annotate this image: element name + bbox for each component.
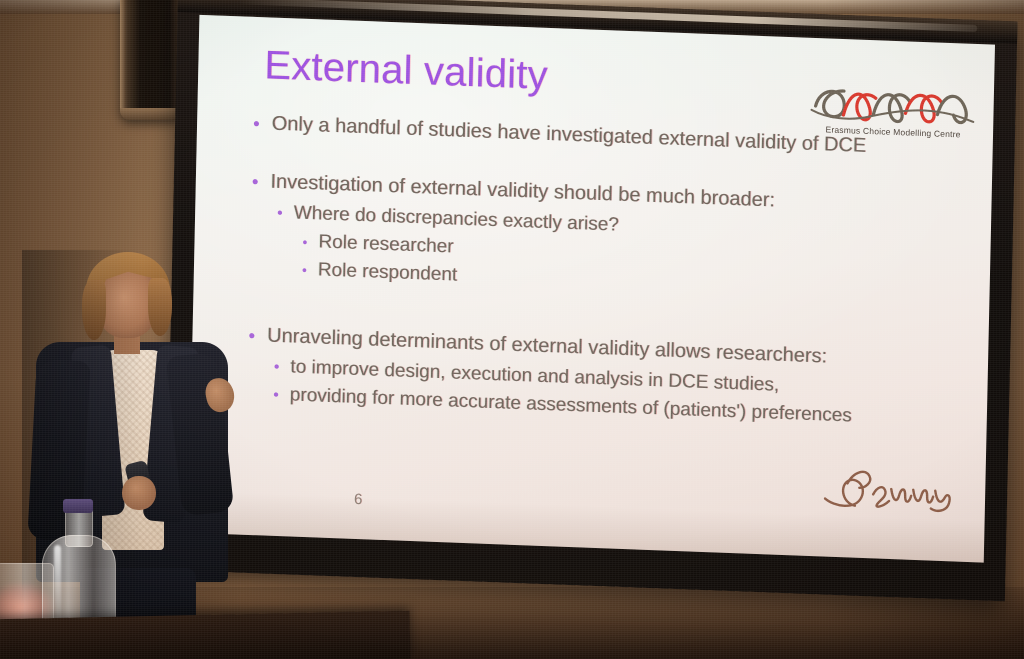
- slide-title: External validity: [264, 45, 548, 96]
- speaker-edge: [120, 0, 126, 108]
- bullet-marker-icon: •: [302, 257, 307, 277]
- bottle-highlight: [54, 545, 61, 623]
- presenter-hair-right: [148, 278, 172, 336]
- projection-screen: External validity Erasmus Choice: [165, 0, 1017, 601]
- wall-mounted-speaker: [120, 0, 182, 120]
- speaker-lip: [120, 108, 182, 120]
- bullet-marker-icon: •: [277, 200, 283, 222]
- foreground-table-edge: [0, 611, 410, 659]
- erasmus-script-icon: [821, 458, 958, 521]
- bullet-marker-icon: •: [274, 354, 280, 376]
- presenter-hand-left: [122, 476, 156, 510]
- presenter-hair-left: [82, 280, 106, 340]
- bullet-text: Role researcher: [318, 229, 454, 260]
- bullet-marker-icon: •: [253, 109, 260, 134]
- bullet-text: Role respondent: [318, 257, 458, 288]
- bullet-marker-icon: •: [252, 167, 259, 192]
- slide-number: 6: [354, 491, 363, 508]
- erasmus-university-signature-logo: [821, 458, 958, 521]
- bottle-cap: [63, 499, 93, 513]
- bullet-marker-icon: •: [273, 382, 279, 404]
- presentation-slide: External validity Erasmus Choice: [188, 15, 995, 563]
- glass-water-bottle: [42, 501, 114, 633]
- bullet-marker-icon: •: [302, 229, 307, 249]
- slide-bullet-list: • Only a handful of studies have investi…: [247, 109, 973, 436]
- bullet-marker-icon: •: [248, 321, 255, 346]
- projected-slide-surface: External validity Erasmus Choice: [188, 15, 995, 563]
- conference-room-scene: External validity Erasmus Choice: [0, 0, 1024, 659]
- ecmc-wave-icon: [809, 76, 978, 132]
